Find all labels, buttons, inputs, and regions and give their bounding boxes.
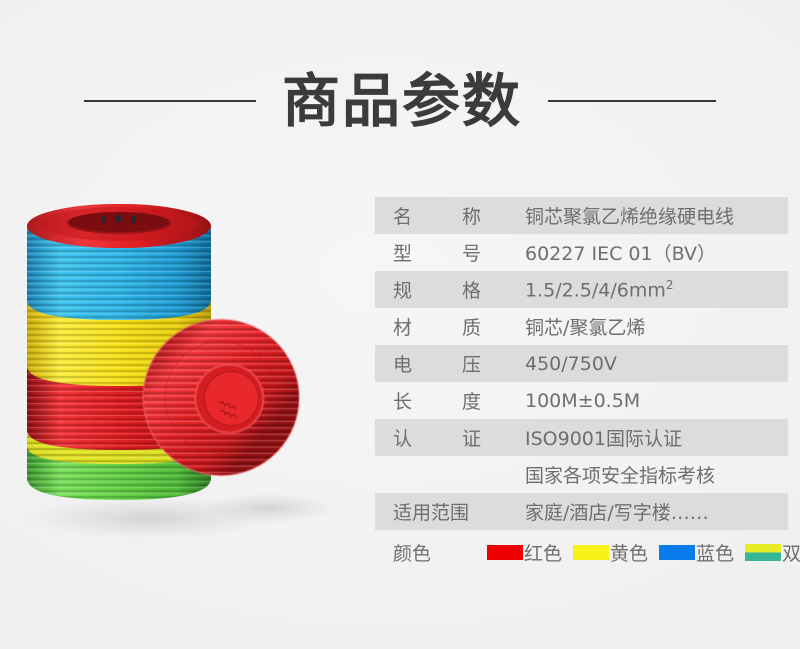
spec-value: 铜芯/聚氯乙烯 <box>525 313 788 340</box>
spec-label: 认 证 <box>375 424 525 451</box>
spec-value: 60227 IEC 01（BV） <box>525 239 788 266</box>
spec-value: 家庭/酒店/写字楼…… <box>525 498 788 525</box>
spec-value: 铜芯聚氯乙烯绝缘硬电线 <box>525 202 788 229</box>
color-swatch-item-blue: 蓝色 <box>659 539 734 566</box>
spec-label: 电 压 <box>375 350 525 377</box>
page-title: 商品参数 <box>282 72 522 130</box>
spec-value-superscript: 2 <box>666 278 674 292</box>
spec-label: 材 质 <box>375 313 525 340</box>
yellow-swatch-label: 黄色 <box>610 539 648 566</box>
dual-swatch <box>745 544 781 561</box>
color-swatch-list: 红色 黄色 蓝色 双色 <box>487 539 800 566</box>
color-swatch-item-dual: 双色 <box>745 539 800 566</box>
table-row: 规 格 1.5/2.5/4/6mm2 <box>375 271 788 308</box>
red-swatch <box>487 545 523 560</box>
spec-table: 名 称 铜芯聚氯乙烯绝缘硬电线 型 号 60227 IEC 01（BV） 规 格… <box>375 197 788 574</box>
spec-value: 100M±0.5M <box>525 390 788 412</box>
table-row-continuation: 国家各项安全指标考核 <box>375 456 788 493</box>
title-rule-right <box>548 100 716 102</box>
page-title-block: 商品参数 <box>0 58 800 144</box>
photo-shadow-2 <box>196 492 340 524</box>
spec-label: 名 称 <box>375 202 525 229</box>
table-row: 认 证 ISO9001国际认证 <box>375 419 788 456</box>
table-row: 材 质 铜芯/聚氯乙烯 <box>375 308 788 345</box>
spec-label: 规 格 <box>375 276 525 303</box>
title-rule-left <box>84 100 256 102</box>
color-swatch-item-yellow: 黄色 <box>573 539 648 566</box>
table-row: 型 号 60227 IEC 01（BV） <box>375 234 788 271</box>
spec-value: 450/750V <box>525 353 788 375</box>
blue-swatch-label: 蓝色 <box>696 539 734 566</box>
color-row-label: 颜色 <box>375 539 487 566</box>
table-row: 电 压 450/750V <box>375 345 788 382</box>
table-row: 长 度 100M±0.5M <box>375 382 788 419</box>
table-row: 名 称 铜芯聚氯乙烯绝缘硬电线 <box>375 197 788 234</box>
red-swatch-label: 红色 <box>524 539 562 566</box>
color-swatch-item-red: 红色 <box>487 539 562 566</box>
blue-swatch <box>659 545 695 560</box>
dual-swatch-label: 双色 <box>782 539 800 566</box>
product-photo <box>0 178 350 550</box>
spec-value: 国家各项安全指标考核 <box>525 461 788 488</box>
product-spec-page: 商品参数 <box>0 0 800 649</box>
spec-label: 适用范围 <box>375 498 525 525</box>
table-row: 适用范围 家庭/酒店/写字楼…… <box>375 493 788 530</box>
spec-label: 型 号 <box>375 239 525 266</box>
spec-label: 长 度 <box>375 387 525 414</box>
product-photo-illustration <box>0 178 350 550</box>
top-spool-rim <box>27 204 211 248</box>
yellow-swatch <box>573 545 609 560</box>
spec-value: 1.5/2.5/4/6mm2 <box>525 278 788 301</box>
spec-value: ISO9001国际认证 <box>525 424 788 451</box>
color-row: 颜色 红色 黄色 蓝色 双色 <box>375 530 788 574</box>
